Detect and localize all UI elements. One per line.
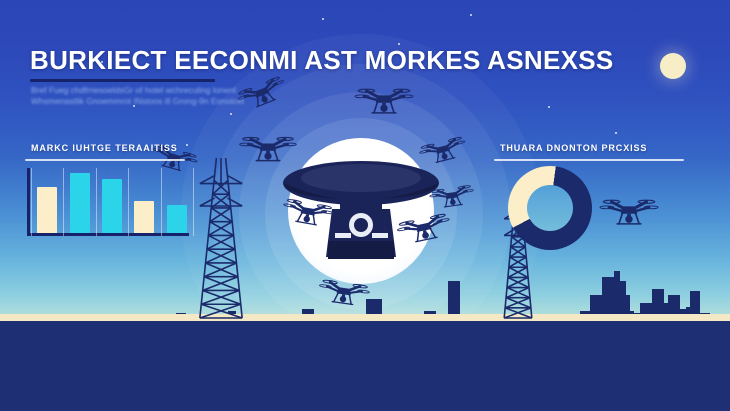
gridline <box>31 168 32 236</box>
drone-mid-left <box>243 133 293 164</box>
star-icon <box>322 18 324 20</box>
drone-right-edge <box>603 195 655 226</box>
bar-chart <box>27 168 189 236</box>
payload-lens-inner <box>354 218 368 232</box>
drone-svg <box>603 195 655 226</box>
drone-leg-right <box>430 228 435 239</box>
drone-leg-left <box>435 153 440 162</box>
gridline <box>128 168 129 236</box>
payload-stripe-right <box>372 233 388 238</box>
payload-body-lower <box>328 241 394 259</box>
drone-leg-right <box>312 215 317 225</box>
bar-chart-bar <box>70 173 90 233</box>
drone-leg-right <box>457 196 461 205</box>
payload-neck <box>340 197 382 209</box>
drone-camera <box>303 215 310 222</box>
drone-camera <box>380 105 387 112</box>
pylon-svg <box>198 158 244 318</box>
bar-chart-bar <box>167 205 187 233</box>
bar-chart-bar <box>102 179 122 233</box>
gridline <box>96 168 97 236</box>
drone-leg-left <box>258 150 262 161</box>
star-icon <box>186 144 188 146</box>
drone-camera <box>441 153 448 160</box>
infographic-poster: BURKIECT EECONMI AST MORKES ASNEXSS Bref… <box>0 0 730 411</box>
drone-leg-right <box>274 150 278 161</box>
drone-leg-left <box>297 212 302 222</box>
drone-svg <box>243 133 293 164</box>
subtitle-line-2: Whsmenastlik Gnoemmrot INstoos ill Grong… <box>31 96 244 106</box>
drone-svg <box>358 84 410 115</box>
page-title: BURKIECT EECONMI AST MORKES ASNEXSS <box>30 45 614 76</box>
drone-camera <box>625 216 632 223</box>
horizon-strip <box>0 314 730 321</box>
drone-leg-left <box>334 292 339 302</box>
drone-leg-left <box>619 213 623 224</box>
bar-chart-bar <box>37 187 57 233</box>
saucer-top-inner <box>301 164 421 192</box>
drone-leg-right <box>348 294 353 304</box>
right-panel-heading: THUARA DNONTON PRCXISS <box>500 143 647 153</box>
bar-chart-y-axis <box>27 168 30 236</box>
left-panel-heading: MARKC IUHTGE TERAAITISS <box>31 143 178 153</box>
title-underline <box>30 79 215 82</box>
drone-leg-right <box>448 149 453 158</box>
pylon-left <box>198 158 244 318</box>
star-icon <box>615 132 617 134</box>
drone-leg-left <box>255 96 261 106</box>
drone-camera <box>450 199 456 205</box>
gridline <box>193 168 194 236</box>
drone-leg-right <box>390 102 394 113</box>
gridline <box>161 168 162 236</box>
drone-leg-left <box>374 102 378 113</box>
drone-leg-left <box>415 231 420 242</box>
left-panel-rule <box>25 159 185 161</box>
donut-chart-hole <box>527 185 573 231</box>
drone-leg-left <box>445 198 449 207</box>
drone-leg-right <box>635 213 639 224</box>
bar-chart-bar <box>134 201 154 233</box>
gridline <box>63 168 64 236</box>
payload-stripe-left <box>335 233 351 238</box>
drone-leg-right <box>268 91 274 101</box>
star-icon <box>470 14 472 16</box>
drone-camera <box>264 153 271 160</box>
drone-camera <box>339 296 346 303</box>
bar-chart-x-axis <box>27 233 189 236</box>
moon-icon <box>660 53 686 79</box>
drone-upper-right <box>358 84 410 115</box>
drone-camera <box>422 231 430 239</box>
right-panel-rule <box>494 159 684 161</box>
subtitle-line-1: Bref Fueg chdfrnesoeldsGr of hotel wchre… <box>31 85 236 95</box>
ground-band <box>0 321 730 411</box>
star-icon <box>548 106 550 108</box>
